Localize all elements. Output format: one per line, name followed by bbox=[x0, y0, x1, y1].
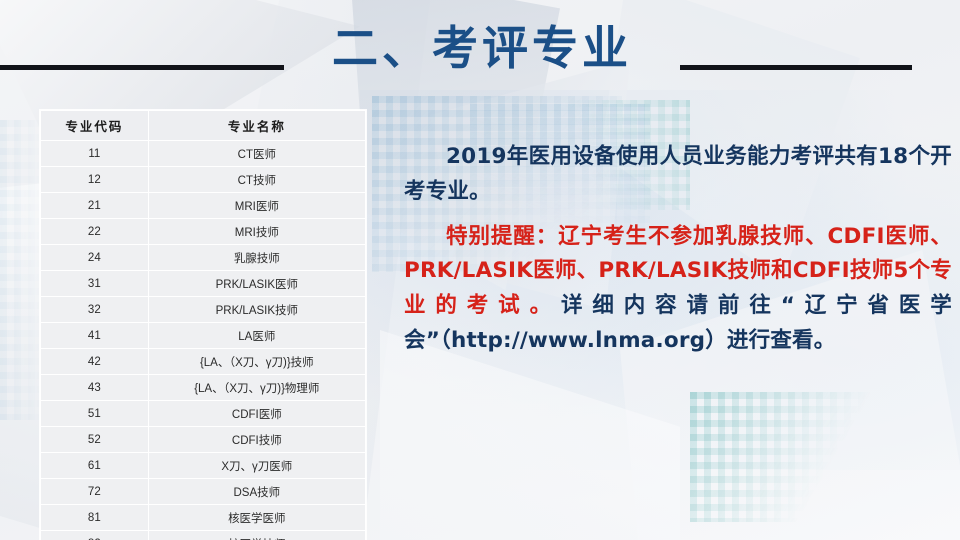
cell-specialty-code: 61 bbox=[41, 453, 149, 479]
cell-specialty-name: 核医学技师 bbox=[148, 531, 365, 540]
cell-specialty-name: {LA、（X刀、γ刀)}物理师 bbox=[148, 375, 365, 401]
body-text-block: 2019年医用设备使用人员业务能力考评共有18个开考专业。 特别提醒：辽宁考生不… bbox=[404, 140, 952, 359]
table-row: 72DSA技师 bbox=[41, 479, 366, 505]
cell-specialty-code: 52 bbox=[41, 427, 149, 453]
cell-specialty-code: 51 bbox=[41, 401, 149, 427]
dot-grid-pattern bbox=[690, 392, 870, 522]
cell-specialty-name: PRK/LASIK医师 bbox=[148, 271, 365, 297]
cell-specialty-code: 43 bbox=[41, 375, 149, 401]
cell-specialty-name: MRI技师 bbox=[148, 219, 365, 245]
table-row: 81核医学医师 bbox=[41, 505, 366, 531]
cell-specialty-name: CDFI医师 bbox=[148, 401, 365, 427]
cell-specialty-name: MRI医师 bbox=[148, 193, 365, 219]
cell-specialty-code: 24 bbox=[41, 245, 149, 271]
table-row: 61X刀、γ刀医师 bbox=[41, 453, 366, 479]
polygon-shape bbox=[380, 330, 680, 540]
table-row: 31PRK/LASIK医师 bbox=[41, 271, 366, 297]
cell-specialty-code: 11 bbox=[41, 141, 149, 167]
table-row: 32PRK/LASIK技师 bbox=[41, 297, 366, 323]
title-rule-left bbox=[0, 65, 284, 70]
column-header-code: 专业代码 bbox=[41, 111, 149, 141]
table-header-row: 专业代码 专业名称 bbox=[41, 111, 366, 141]
slide-canvas: 二、考评专业 专业代码 专业名称 11CT医师12CT技师21MRI医师22MR… bbox=[0, 0, 960, 540]
cell-specialty-code: 72 bbox=[41, 479, 149, 505]
table-row: 11CT医师 bbox=[41, 141, 366, 167]
cell-specialty-name: X刀、γ刀医师 bbox=[148, 453, 365, 479]
table-row: 22MRI技师 bbox=[41, 219, 366, 245]
cell-specialty-name: LA医师 bbox=[148, 323, 365, 349]
cell-specialty-name: CT技师 bbox=[148, 167, 365, 193]
cell-specialty-code: 32 bbox=[41, 297, 149, 323]
cell-specialty-name: 乳腺技师 bbox=[148, 245, 365, 271]
table-row: 51CDFI医师 bbox=[41, 401, 366, 427]
cell-specialty-name: {LA、（X刀、γ刀)}技师 bbox=[148, 349, 365, 375]
table-body: 11CT医师12CT技师21MRI医师22MRI技师24乳腺技师31PRK/LA… bbox=[41, 141, 366, 540]
cell-specialty-code: 31 bbox=[41, 271, 149, 297]
title-row: 二、考评专业 bbox=[0, 34, 960, 92]
cell-specialty-code: 41 bbox=[41, 323, 149, 349]
cell-specialty-code: 81 bbox=[41, 505, 149, 531]
cell-specialty-name: CDFI技师 bbox=[148, 427, 365, 453]
table-row: 24乳腺技师 bbox=[41, 245, 366, 271]
page-title: 二、考评专业 bbox=[284, 24, 680, 72]
table-row: 43{LA、（X刀、γ刀)}物理师 bbox=[41, 375, 366, 401]
cell-specialty-name: 核医学医师 bbox=[148, 505, 365, 531]
cell-specialty-code: 42 bbox=[41, 349, 149, 375]
cell-specialty-code: 82 bbox=[41, 531, 149, 540]
table-row: 52CDFI技师 bbox=[41, 427, 366, 453]
cell-specialty-name: PRK/LASIK技师 bbox=[148, 297, 365, 323]
paragraph-notice: 特别提醒：辽宁考生不参加乳腺技师、CDFI医师、PRK/LASIK医师、PRK/… bbox=[404, 220, 952, 359]
cell-specialty-code: 12 bbox=[41, 167, 149, 193]
cell-specialty-name: DSA技师 bbox=[148, 479, 365, 505]
cell-specialty-code: 22 bbox=[41, 219, 149, 245]
column-header-name: 专业名称 bbox=[148, 111, 365, 141]
title-rule-right bbox=[680, 65, 912, 70]
specialty-table: 专业代码 专业名称 11CT医师12CT技师21MRI医师22MRI技师24乳腺… bbox=[40, 110, 366, 540]
table-row: 12CT技师 bbox=[41, 167, 366, 193]
table-row: 82核医学技师 bbox=[41, 531, 366, 540]
table-row: 42{LA、（X刀、γ刀)}技师 bbox=[41, 349, 366, 375]
paragraph-intro: 2019年医用设备使用人员业务能力考评共有18个开考专业。 bbox=[404, 140, 952, 210]
table-row: 21MRI医师 bbox=[41, 193, 366, 219]
cell-specialty-name: CT医师 bbox=[148, 141, 365, 167]
cell-specialty-code: 21 bbox=[41, 193, 149, 219]
table-row: 41LA医师 bbox=[41, 323, 366, 349]
